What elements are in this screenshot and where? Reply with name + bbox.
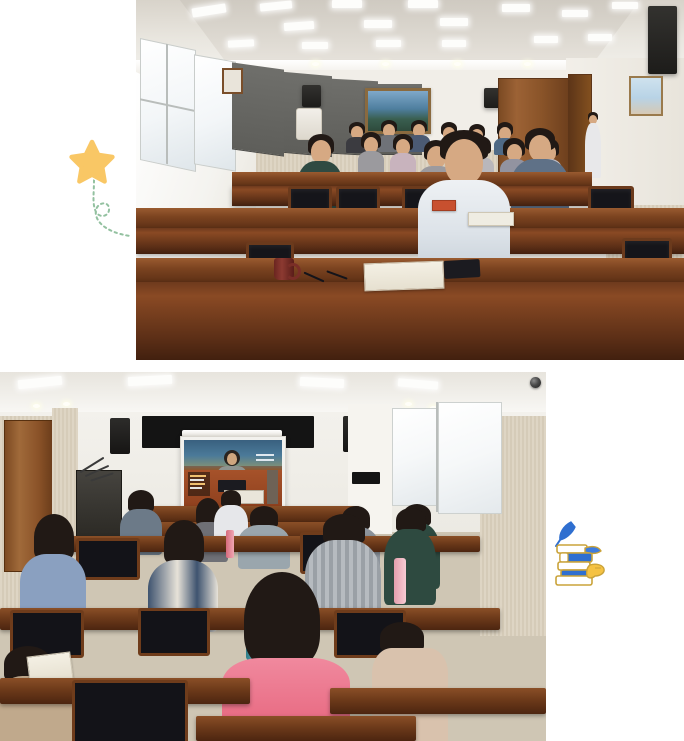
video-caption-line (256, 454, 274, 456)
video-sidebar-line (190, 487, 202, 489)
room-scene-rear (0, 372, 546, 741)
ceiling-light (408, 0, 438, 8)
ceiling-downlight (33, 404, 40, 408)
papers-right (468, 212, 514, 226)
ceiling-light (302, 42, 328, 49)
window (392, 408, 438, 506)
photo-bottom-caption: Same conference room viewed from the bac… (0, 0, 1, 1)
person-head (311, 140, 331, 163)
framed-portrait (629, 76, 663, 116)
desk-row-middle-face (136, 228, 684, 254)
coffee-mug (274, 258, 294, 280)
person-attendee (358, 132, 384, 172)
wall-speaker-left (302, 85, 321, 107)
bench-row-front-right (330, 688, 546, 714)
ceiling-light (612, 2, 638, 9)
person-body (585, 123, 601, 178)
star-icon (72, 142, 113, 181)
ceiling-light (588, 34, 612, 41)
book-bottom (556, 576, 592, 585)
desk-row-middle (136, 208, 684, 230)
thermos-flask-pink (226, 530, 234, 558)
wall-speaker-right (648, 6, 677, 74)
person-hair-long (244, 572, 320, 668)
thermos-flask-pink (394, 558, 406, 604)
ceiling-downlight (405, 402, 412, 406)
person-attendee (384, 508, 436, 604)
seat-back (72, 680, 188, 741)
ceiling-downlight (63, 402, 70, 406)
room-scene-front (136, 0, 684, 360)
ceiling-light (228, 39, 254, 47)
ceiling-downlight (524, 62, 531, 66)
ceiling-light (442, 40, 466, 47)
ceiling-light (502, 4, 530, 12)
ceiling-downlight (312, 62, 319, 66)
video-sidebar-line (190, 479, 204, 481)
video-caption-line (256, 459, 274, 461)
photo-conference-room-front[interactable] (136, 0, 684, 360)
person-attendee (390, 134, 416, 174)
person-body (358, 151, 384, 174)
ceiling-downlight (382, 62, 389, 66)
person-head (445, 139, 483, 185)
quill-tip (556, 540, 560, 546)
photo-top-caption: Conference room meeting viewed from the … (0, 0, 1, 1)
window-mullion (436, 402, 438, 512)
star-trail-path (94, 180, 131, 236)
person-presenter-foreground (418, 130, 510, 262)
smartphone (444, 259, 481, 279)
window-mullion (166, 44, 168, 164)
person-standing (585, 112, 601, 178)
book-third (558, 562, 590, 570)
person-head (529, 135, 551, 161)
window (438, 402, 502, 514)
book-fourth (561, 570, 591, 578)
ceiling-light (364, 20, 392, 28)
star-outline (72, 142, 113, 181)
star-sticker (68, 136, 138, 244)
video-sidebar-line (190, 483, 205, 485)
ceiling-light (440, 18, 468, 26)
pointing-hand-icon (587, 564, 605, 578)
book-stack-sticker (551, 518, 607, 590)
ceiling-light (376, 40, 401, 47)
wall-sign (352, 472, 380, 484)
photo-conference-room-rear[interactable] (0, 372, 546, 741)
seat-back (138, 608, 210, 656)
quill-icon (560, 522, 575, 540)
smoke-detector-icon (530, 377, 541, 388)
open-notebook (364, 261, 445, 292)
page-canvas: Conference room meeting viewed from the … (0, 0, 684, 741)
desk-row-front-face (136, 282, 684, 360)
ceiling-downlight (454, 62, 461, 66)
person-attendee (20, 514, 86, 622)
book-second-pages (560, 553, 568, 562)
book-top (557, 545, 587, 553)
ceiling-light (332, 0, 362, 8)
video-sidebar-line (190, 475, 206, 477)
book-second (560, 553, 592, 562)
remote-speaker-face (227, 453, 237, 465)
ceiling-light (534, 36, 558, 43)
person-hair (164, 520, 204, 564)
ceiling-light (562, 10, 588, 17)
person-body (384, 529, 436, 605)
book-open-flap (585, 547, 601, 554)
bench-row-nearest (196, 716, 416, 741)
wall-clock (222, 68, 243, 94)
video-side-figure (267, 470, 278, 504)
wall-speaker-left (110, 418, 130, 454)
papers-right (432, 200, 456, 211)
